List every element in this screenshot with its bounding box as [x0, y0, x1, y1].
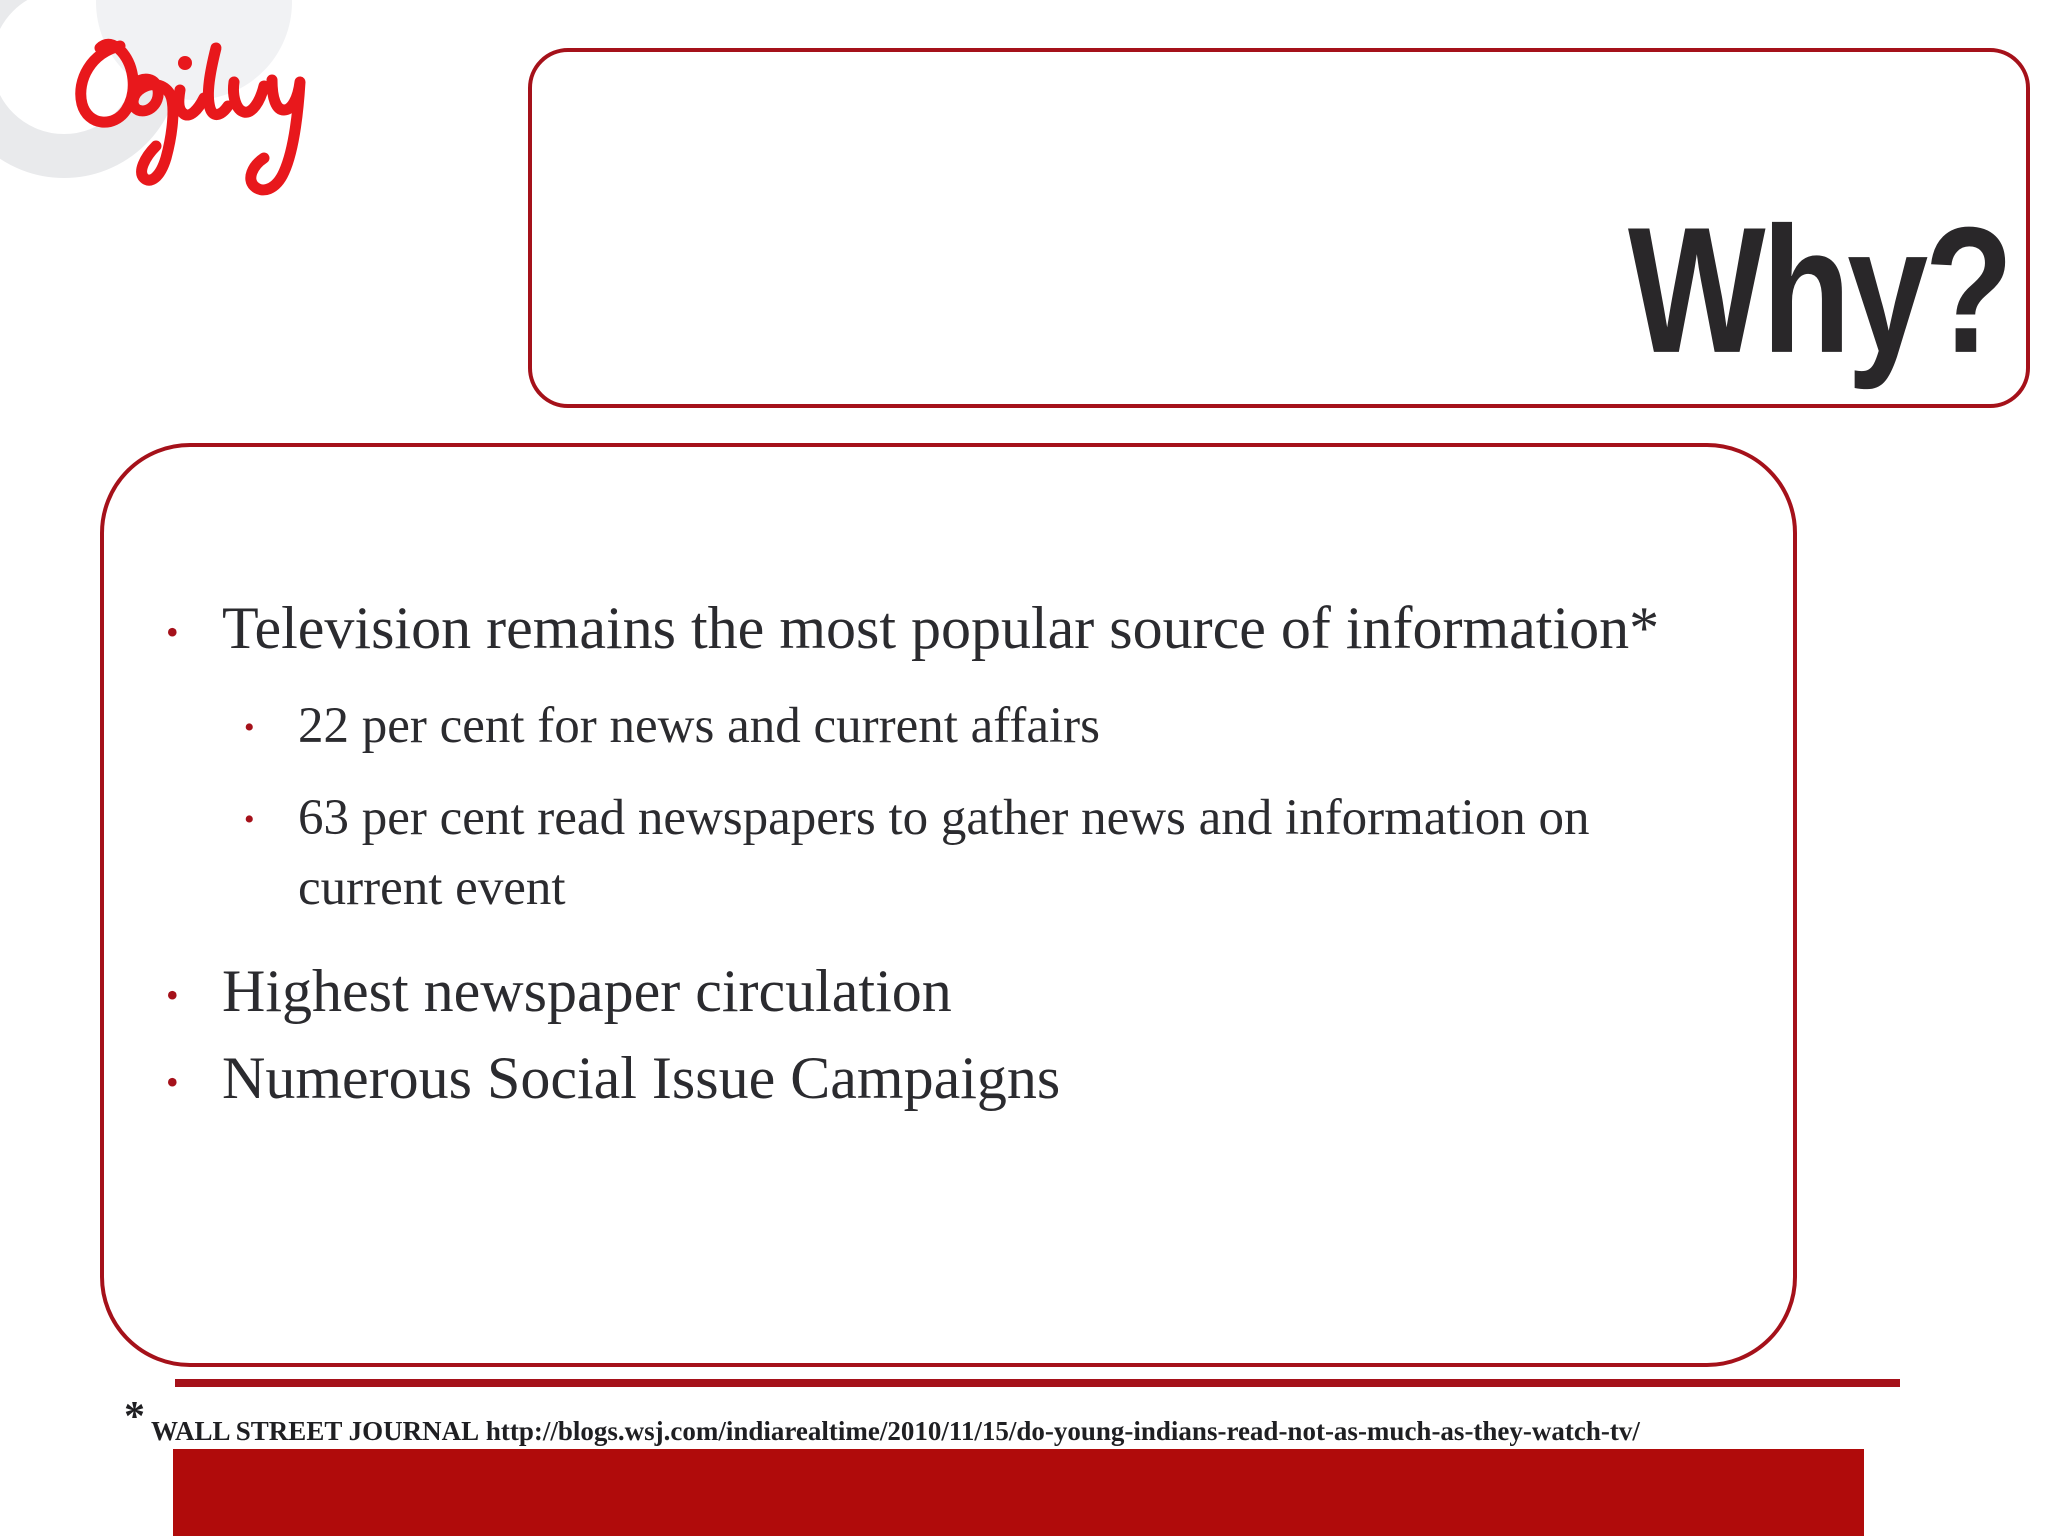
list-item: • Highest newspaper circulation [150, 951, 1710, 1032]
bullet-dot-icon: • [244, 805, 255, 835]
spacer [150, 669, 1710, 691]
list-item: • Television remains the most popular so… [150, 588, 1710, 669]
footnote-space [479, 1416, 486, 1446]
footnote-marker: * [124, 1394, 145, 1440]
title-rounded-frame: Why? [528, 48, 2030, 408]
ogilvy-logo [0, 0, 380, 240]
footnote-divider [175, 1379, 1900, 1387]
ogilvy-signature-icon [48, 18, 348, 218]
footnote-url: http://blogs.wsj.com/indiarealtime/2010/… [486, 1416, 1640, 1446]
bullet-dot-icon: • [166, 1064, 179, 1100]
list-item: • 63 per cent read newspapers to gather … [150, 783, 1710, 923]
footer-red-bar [173, 1449, 1864, 1536]
list-item-label: Television remains the most popular sour… [222, 588, 1710, 669]
spacer [150, 761, 1710, 783]
bullet-list: • Television remains the most popular so… [150, 588, 1710, 1119]
spacer [150, 923, 1710, 951]
page-title: Why? [1628, 202, 2010, 379]
slide-canvas: Why? • Television remains the most popul… [0, 0, 2048, 1536]
footnote: *WALL STREET JOURNAL http://blogs.wsj.co… [124, 1400, 2034, 1448]
list-item: • 22 per cent for news and current affai… [150, 691, 1710, 761]
list-item-label: 22 per cent for news and current affairs [298, 691, 1710, 761]
footnote-source: WALL STREET JOURNAL [151, 1416, 479, 1446]
logo-dot-icon [178, 56, 192, 70]
list-item: • Numerous Social Issue Campaigns [150, 1038, 1710, 1119]
bullet-dot-icon: • [166, 977, 179, 1013]
bullet-dot-icon: • [244, 713, 255, 743]
bullet-dot-icon: • [166, 614, 179, 650]
list-item-label: Highest newspaper circulation [222, 951, 1710, 1032]
list-item-label: 63 per cent read newspapers to gather ne… [298, 783, 1710, 923]
list-item-label: Numerous Social Issue Campaigns [222, 1038, 1710, 1119]
